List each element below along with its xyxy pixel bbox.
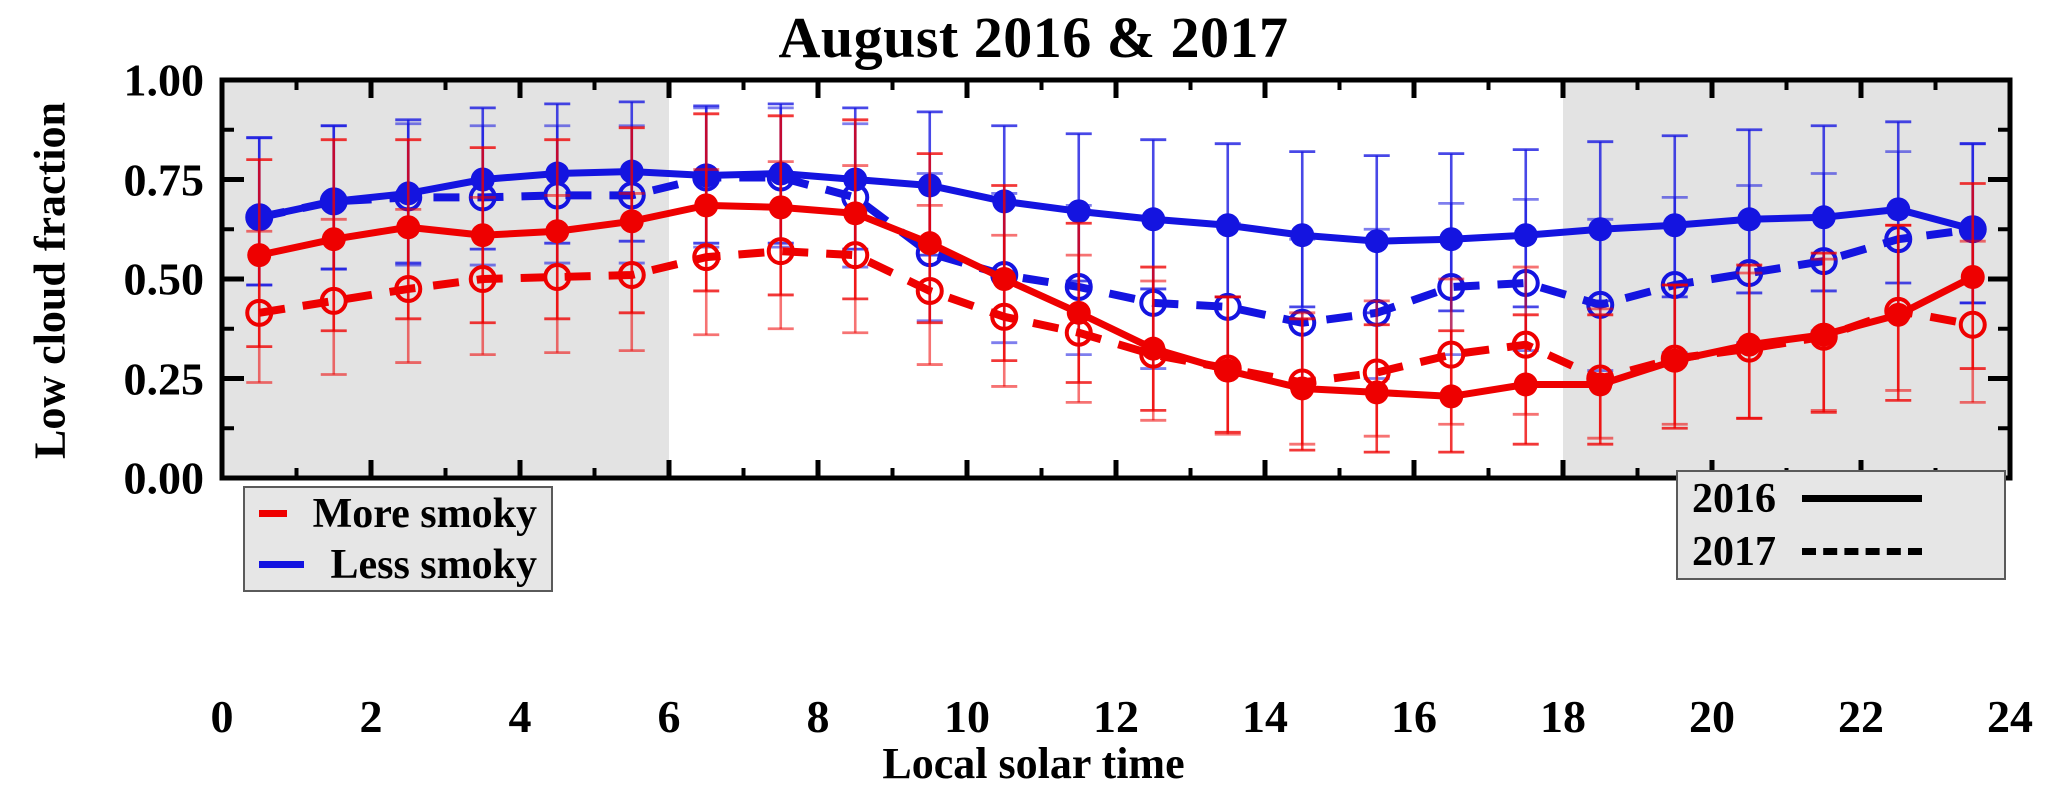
data-point-marker	[1365, 380, 1389, 404]
data-point-marker	[471, 223, 495, 247]
legend-year-label-0: 2016	[1692, 475, 1776, 523]
legend-year-swatch-1	[1802, 548, 1922, 555]
data-point-marker	[1514, 223, 1538, 247]
data-point-marker	[1290, 376, 1314, 400]
data-point-marker	[1141, 207, 1165, 231]
data-point-marker	[1886, 303, 1910, 327]
data-point-marker	[1812, 205, 1836, 229]
data-point-marker	[992, 267, 1016, 291]
data-point-marker	[1514, 372, 1538, 396]
data-point-marker	[843, 201, 867, 225]
figure: August 2016 & 2017 Low cloud fraction Lo…	[0, 0, 2067, 797]
data-point-marker	[1737, 207, 1761, 231]
data-point-marker	[1886, 197, 1910, 221]
data-point-marker	[694, 193, 718, 217]
data-point-marker	[1588, 217, 1612, 241]
data-point-marker	[1216, 213, 1240, 237]
legend-year-entry-0: 2016	[1692, 472, 1990, 525]
data-point-marker	[322, 227, 346, 251]
legend-smoky-swatch-0	[259, 510, 287, 517]
legend-smoky: More smokyLess smoky	[243, 486, 553, 592]
data-point-marker	[1365, 229, 1389, 253]
data-point-marker	[769, 195, 793, 219]
data-point-marker	[1141, 337, 1165, 361]
data-point-marker	[1439, 227, 1463, 251]
data-point-marker	[1663, 349, 1687, 373]
data-point-marker	[1067, 301, 1091, 325]
data-point-marker	[1663, 213, 1687, 237]
data-point-marker	[1290, 223, 1314, 247]
legend-year-swatch-0	[1802, 495, 1922, 502]
night-shade-band-0	[222, 80, 669, 478]
legend-year-label-1: 2017	[1692, 528, 1776, 576]
night-shade-band-1	[1563, 80, 2010, 478]
legend-smoky-entry-0: More smoky	[259, 488, 537, 539]
plot-canvas	[0, 0, 2067, 797]
data-point-marker	[1812, 323, 1836, 347]
legend-year-entry-1: 2017	[1692, 525, 1990, 578]
legend-smoky-label-1: Less smoky	[330, 541, 537, 589]
legend-smoky-swatch-1	[259, 561, 304, 568]
data-point-marker	[1439, 384, 1463, 408]
legend-smoky-label-0: More smoky	[313, 490, 537, 538]
data-point-marker	[1737, 333, 1761, 357]
data-point-marker	[1961, 265, 1985, 289]
legend-smoky-entry-1: Less smoky	[259, 539, 537, 590]
data-point-marker	[918, 231, 942, 255]
data-point-marker	[620, 209, 644, 233]
data-point-marker	[545, 219, 569, 243]
data-point-marker	[1216, 359, 1240, 383]
data-point-marker	[1067, 199, 1091, 223]
legend-year: 20162017	[1676, 470, 2006, 580]
data-point-marker	[396, 215, 420, 239]
data-point-marker	[247, 243, 271, 267]
data-point-marker	[1588, 372, 1612, 396]
